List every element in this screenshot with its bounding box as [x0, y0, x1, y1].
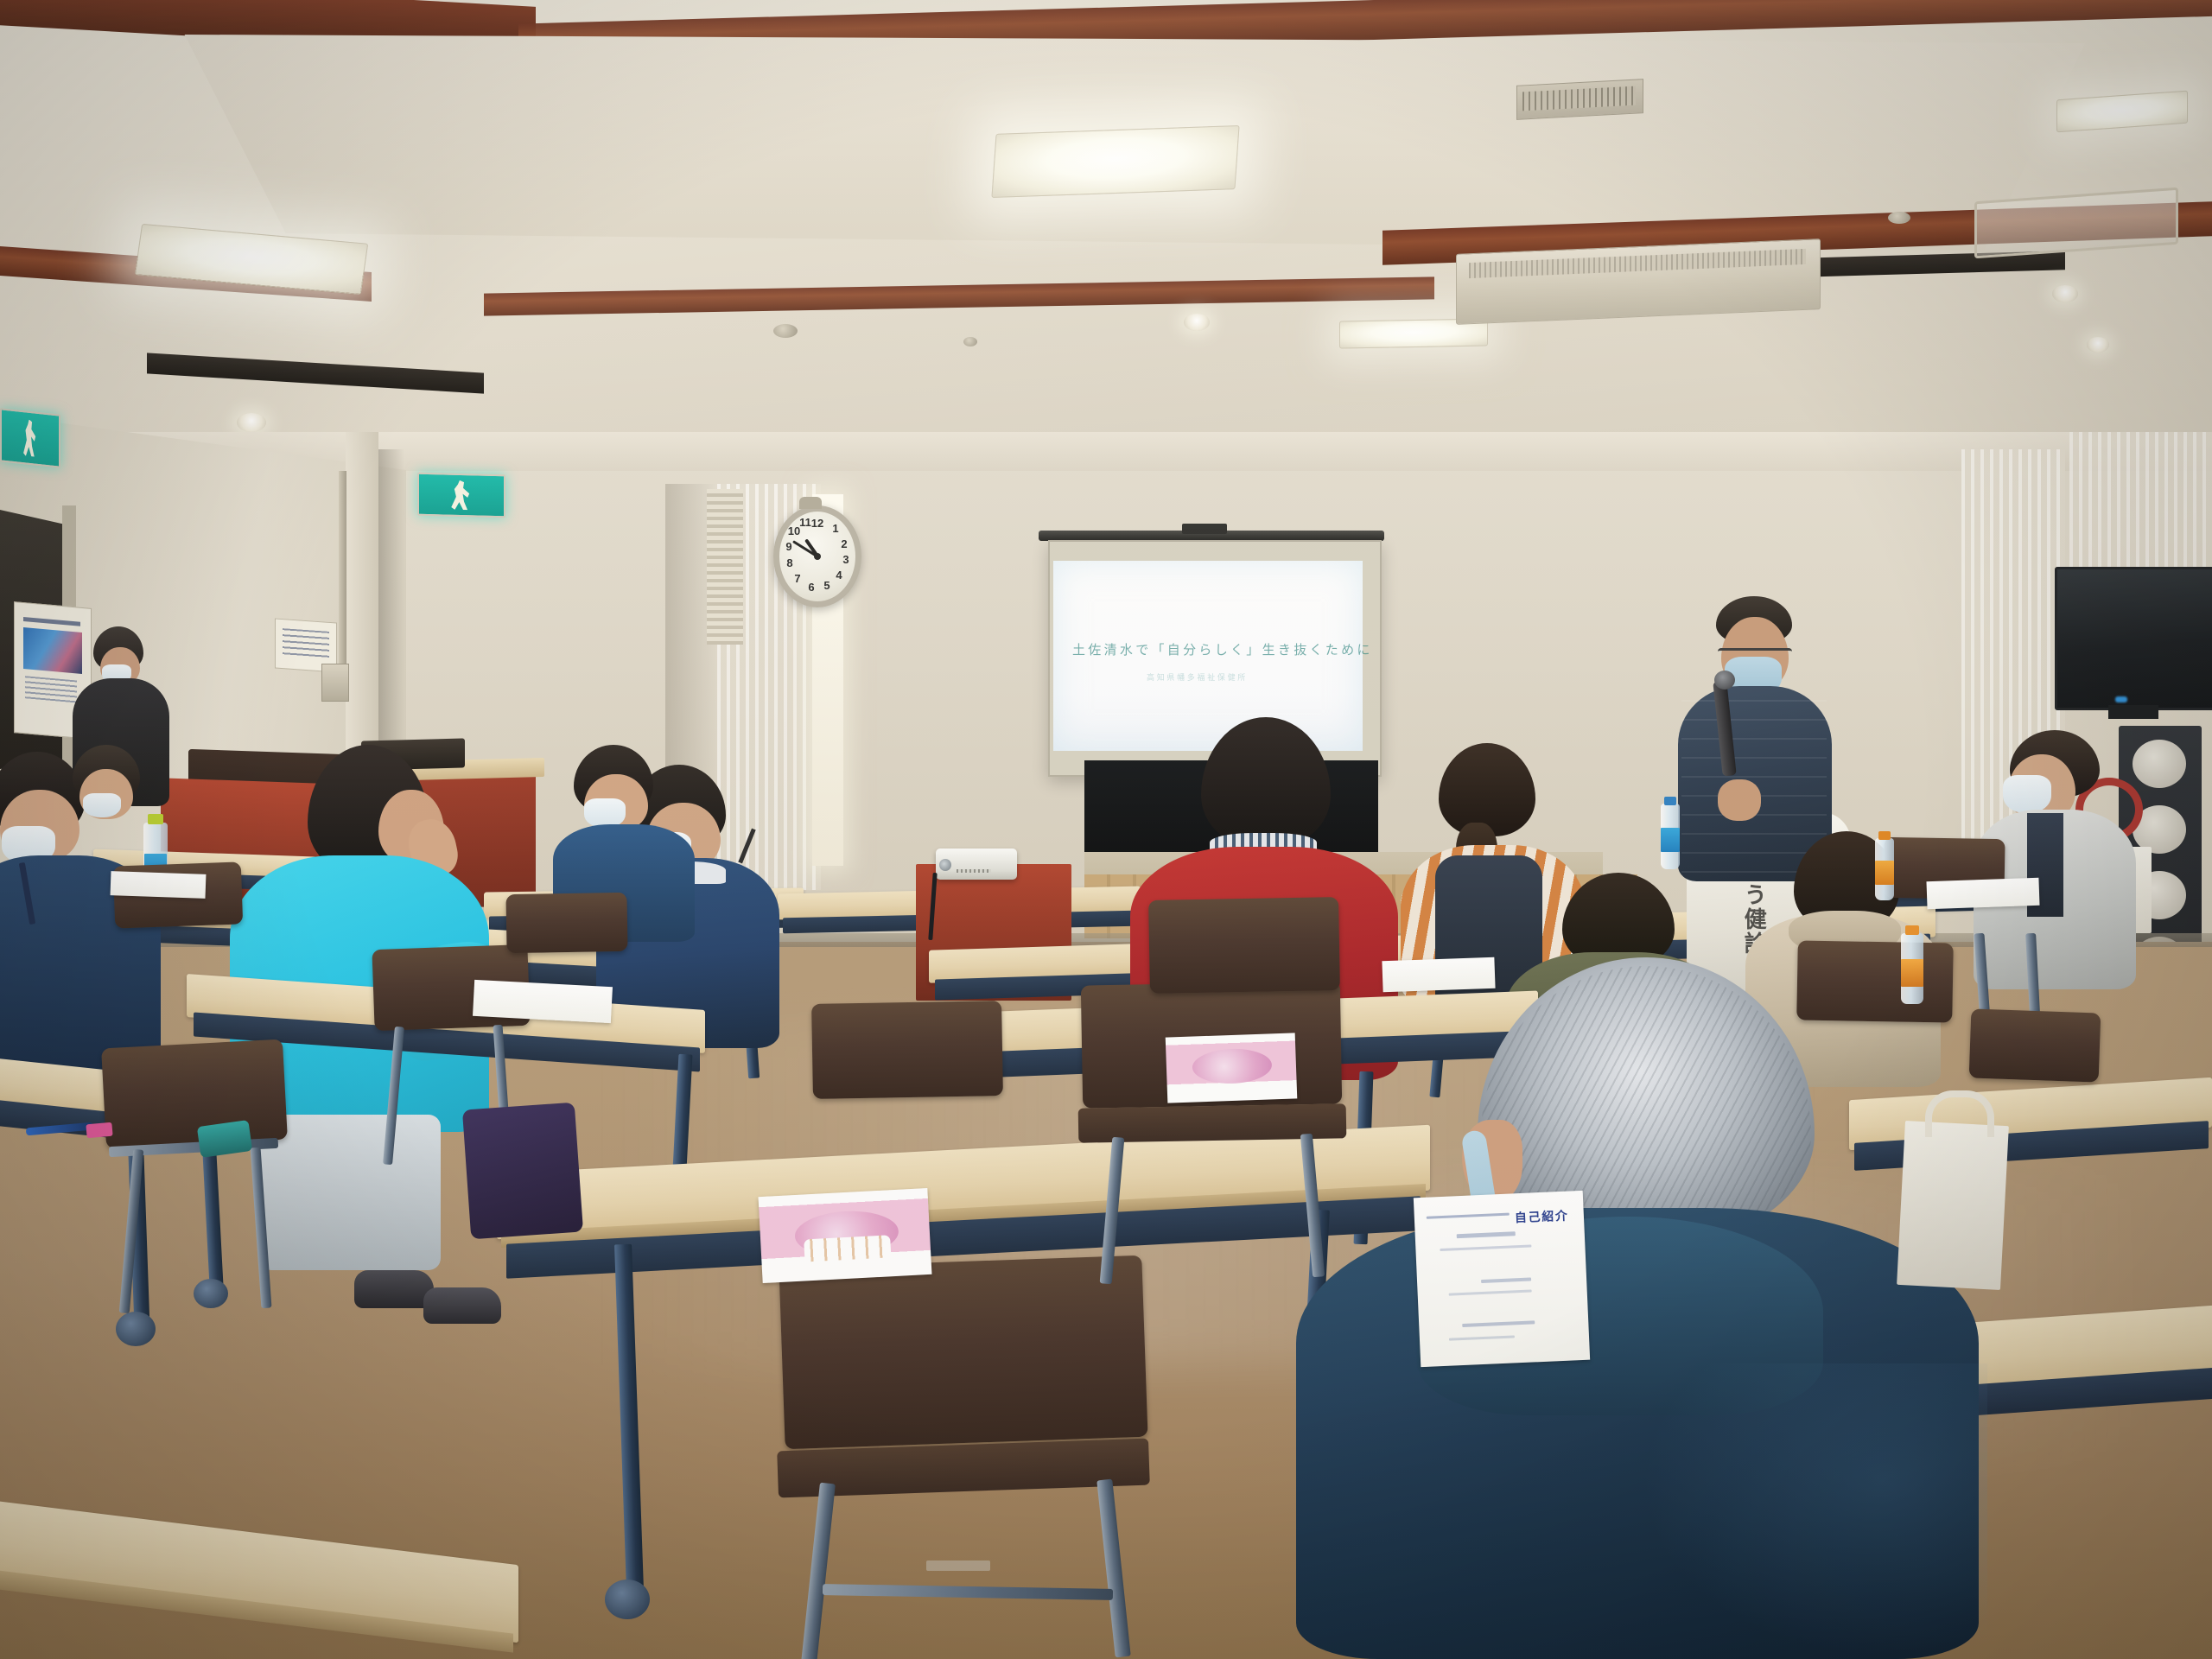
pink-flyer-front[interactable]: [759, 1188, 932, 1283]
wall-outlet-box: [321, 664, 349, 702]
tote-bag-foreground-right: [1897, 1121, 2009, 1290]
ceiling-speaker-1: [773, 324, 798, 338]
clock-top-knob: [799, 497, 822, 509]
attendee-row2-left-small: [64, 745, 159, 849]
attendee-row2-pen-mask: [584, 798, 626, 828]
poster-headline: [23, 617, 80, 626]
ceiling-light-2: [991, 125, 1239, 198]
wall-conduit-pipe: [339, 471, 346, 683]
table-projector: [936, 849, 1017, 880]
wall-clock: 12 1 2 3 4 5 6 7 8 9 10 11: [773, 505, 861, 607]
white-handout-left-2[interactable]: [111, 871, 207, 899]
water-bottle-right-cap: [1878, 831, 1891, 840]
poster-small-lines: [283, 628, 329, 661]
clock-numeral-3: 3: [835, 553, 857, 566]
pink-flyer-mid[interactable]: [1166, 1033, 1298, 1103]
white-handout-right[interactable]: [1926, 878, 2039, 910]
attendee-row2-left-small-mask: [83, 793, 121, 817]
microphone-head: [1714, 671, 1735, 690]
chair-mid-right-2: [1148, 897, 1340, 994]
pink-flyer-figures: [804, 1235, 891, 1262]
ceiling-sprinkler: [963, 337, 977, 346]
attendee-cyan-shoe-right: [423, 1287, 501, 1324]
attendee-gray-hoodie-shoulder-shadow: [1642, 1363, 1987, 1657]
handout-line-4: [1481, 1278, 1531, 1284]
wall-mounted-tv: [2055, 567, 2212, 710]
chair-left-4: [505, 893, 627, 953]
seminar-room-photo: 12 1 2 3 4 5 6 7 8 9 10 11 土佐清水で「自分らしく」生…: [0, 0, 2212, 1659]
water-bottle-center-label: [1661, 828, 1680, 852]
handout-line-2: [1457, 1231, 1516, 1238]
clock-numeral-2: 2: [833, 537, 855, 550]
desk-front-center-caster1: [605, 1580, 650, 1619]
desk-row4-center-caster1: [116, 1312, 156, 1346]
clock-numeral-8: 8: [779, 556, 801, 569]
attendee-red-hair: [1201, 717, 1331, 847]
clock-numeral-11: 11: [794, 516, 817, 529]
projector-lens: [939, 859, 951, 871]
eraser-bottom-left[interactable]: [86, 1122, 112, 1139]
slide-subtitle: 高知県幡多福祉保健所: [1147, 671, 1248, 683]
handout-line-6: [1462, 1320, 1535, 1327]
water-bottle-center-cap: [1664, 797, 1676, 805]
water-bottle-orange[interactable]: [1901, 933, 1923, 1004]
wall-blinds: [707, 489, 743, 645]
tote-bag-handle: [1925, 1090, 1994, 1137]
handout-line-5: [1449, 1290, 1532, 1296]
water-bottle-right-label: [1875, 861, 1894, 885]
ceiling-speaker-2: [1888, 212, 1910, 224]
clock-numeral-7: 7: [786, 572, 809, 585]
handout-line-7: [1449, 1335, 1515, 1340]
attendee-gray-blazer-mask: [2003, 775, 2051, 813]
tv-standby-led: [2115, 696, 2127, 702]
attendee-cyan-trousers: [259, 1115, 441, 1270]
exit-sign-center-icon: [417, 473, 505, 518]
attendee-gray-hoodie: [1313, 957, 2005, 1659]
handout-self-introduction[interactable]: 自己紹介: [1414, 1191, 1590, 1367]
running-person-pictogram-center: [450, 480, 472, 511]
screen-mount-bracket: [1182, 524, 1227, 534]
handout-self-introduction-title: 自己紹介: [1514, 1207, 1569, 1227]
desk-row4-left-caster: [194, 1279, 228, 1308]
water-bottle-right[interactable]: [1875, 838, 1894, 900]
water-bottle-center[interactable]: [1661, 804, 1680, 869]
bag-floor-left: [462, 1103, 583, 1240]
chair-foreground-center-label: [926, 1560, 990, 1571]
exit-sign-left-icon: [0, 408, 60, 467]
slide-title: 土佐清水で「自分らしく」生き抜くために: [1072, 640, 1373, 658]
white-handout-left[interactable]: [473, 980, 613, 1023]
clock-center-pin: [814, 553, 821, 560]
water-bottle-orange-label: [1901, 959, 1923, 987]
ceiling-downlight-4: [2052, 285, 2078, 302]
water-bottle-orange-cap: [1905, 925, 1919, 935]
tv-wall-bracket: [2108, 705, 2158, 719]
projector-vent: [957, 869, 991, 873]
white-handout-center[interactable]: [1382, 957, 1495, 993]
handout-line-3: [1440, 1244, 1531, 1251]
pink-flyer-mid-illustration: [1192, 1047, 1272, 1084]
attendee-cyan-shoe-left: [354, 1270, 434, 1308]
attendee-striped-hair: [1439, 743, 1535, 836]
chair-left-1: [101, 1039, 288, 1149]
ceiling-downlight-3: [1184, 314, 1210, 331]
presenter-hand: [1718, 779, 1761, 821]
speaker-driver-1: [2133, 740, 2186, 788]
running-person-pictogram-left: [22, 419, 37, 458]
chair-foreground-center: [779, 1255, 1147, 1450]
ceiling-downlight-5: [2087, 337, 2109, 353]
clock-numeral-1: 1: [824, 522, 847, 535]
ceiling-downlight-1: [237, 413, 266, 432]
handout-line-1: [1427, 1213, 1510, 1219]
chair-center-back: [811, 1001, 1003, 1099]
